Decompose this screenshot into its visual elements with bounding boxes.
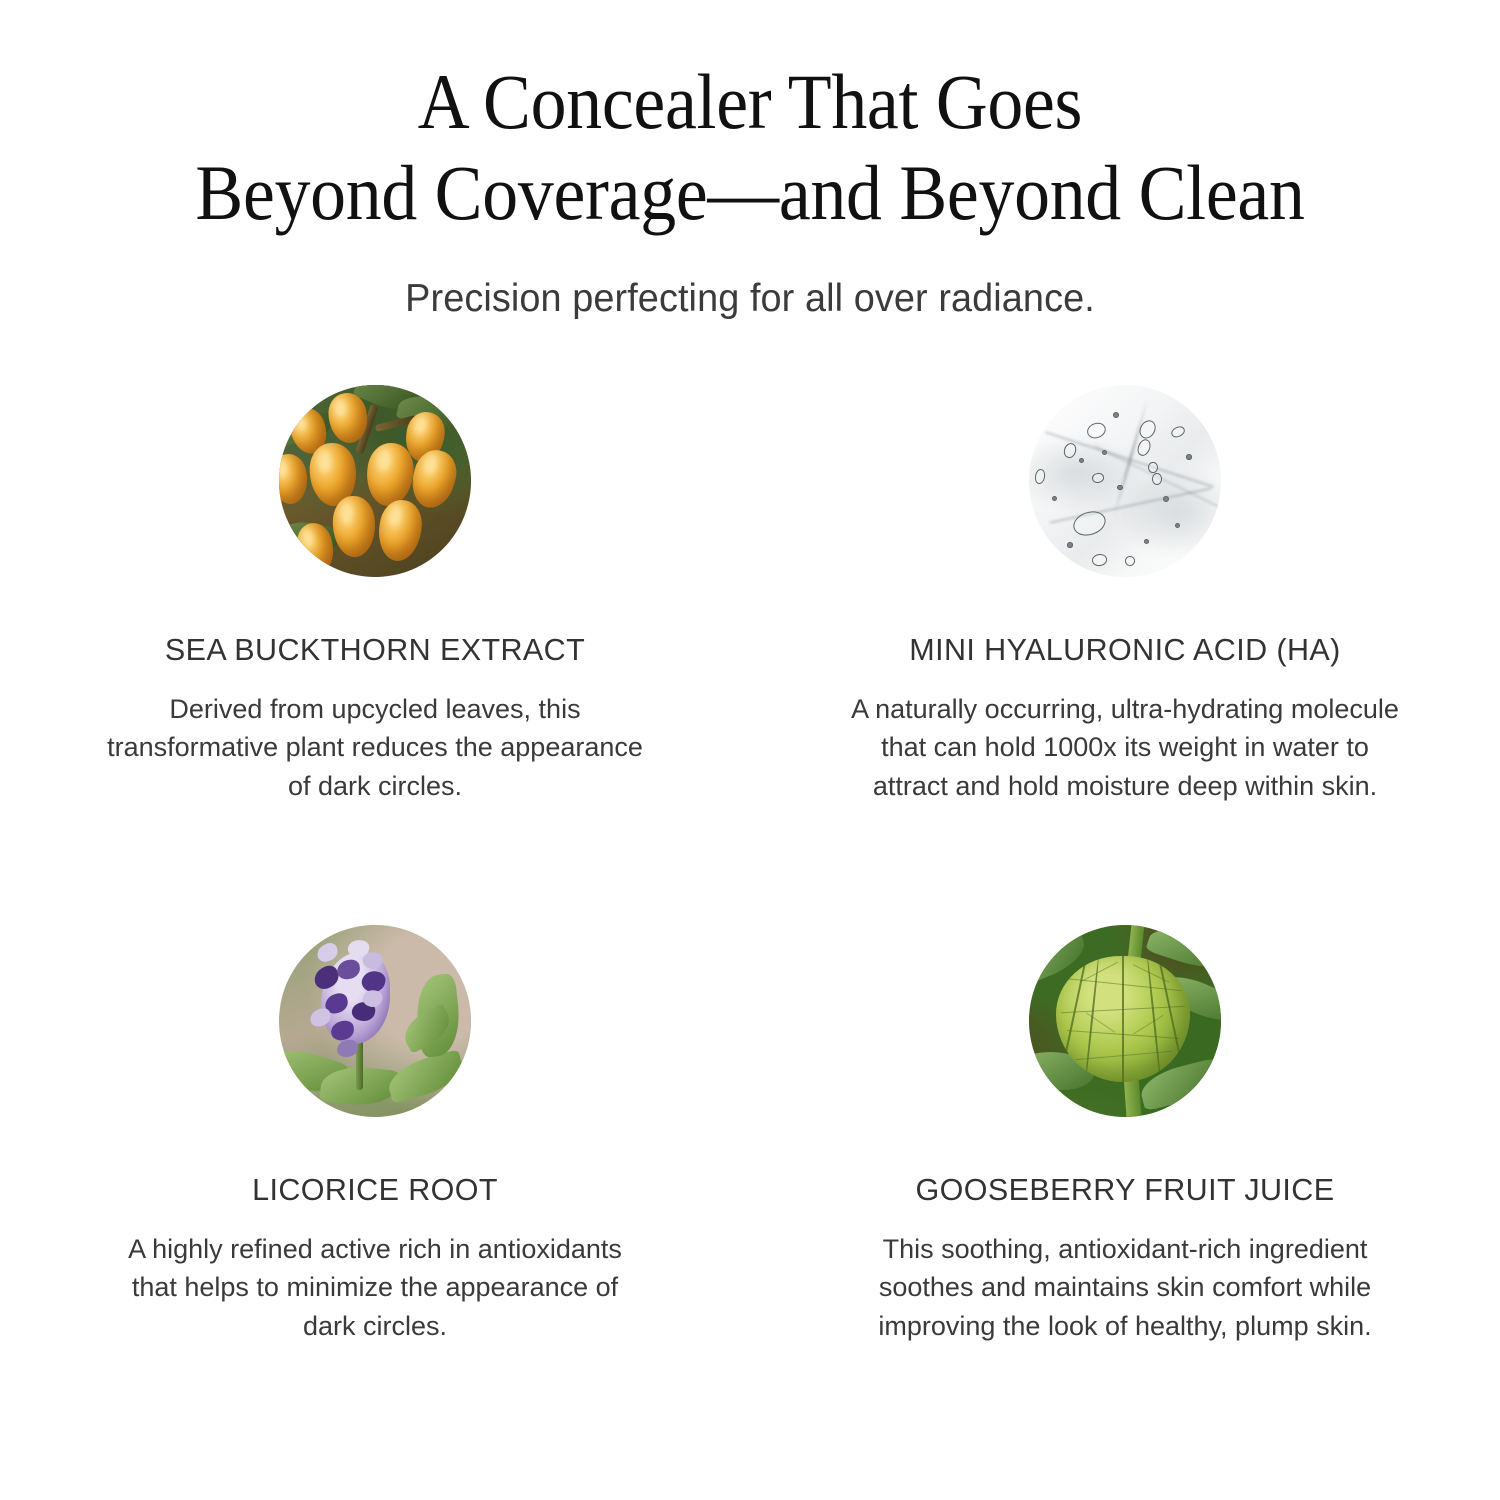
licorice-root-image [279,925,471,1117]
ingredient-card-gooseberry: GOOSEBERRY FRUIT JUICE This soothing, an… [750,925,1500,1465]
gooseberry-image [1029,925,1221,1117]
ingredient-description: This soothing, antioxidant-rich ingredie… [843,1230,1408,1345]
sea-buckthorn-image [279,385,471,577]
ingredient-card-licorice-root: LICORICE ROOT A highly refined active ri… [0,925,750,1465]
ingredient-description: A highly refined active rich in antioxid… [105,1230,645,1345]
ingredient-title: GOOSEBERRY FRUIT JUICE [916,1173,1335,1208]
gooseberry-husk-illustration [1029,925,1221,1117]
ingredient-thumb-wrap [279,385,471,577]
ingredient-thumb-wrap [279,925,471,1117]
page-title-line-2: Beyond Coverage—and Beyond Clean [134,147,1367,238]
berries-illustration [279,385,471,577]
ingredient-card-hyaluronic-acid: MINI HYALURONIC ACID (HA) A naturally oc… [750,385,1500,925]
ingredient-card-sea-buckthorn: SEA BUCKTHORN EXTRACT Derived from upcyc… [0,385,750,925]
hyaluronic-acid-image [1029,385,1221,577]
ingredient-description: A naturally occurring, ultra-hydrating m… [843,690,1408,805]
ingredient-thumb-wrap [1029,385,1221,577]
ingredient-title: MINI HYALURONIC ACID (HA) [909,633,1340,668]
ingredient-grid: SEA BUCKTHORN EXTRACT Derived from upcyc… [0,385,1500,1465]
ingredient-title: LICORICE ROOT [252,1173,498,1208]
page-header: A Concealer That Goes Beyond Coverage—an… [0,0,1500,321]
page-title-line-1: A Concealer That Goes [134,56,1367,147]
ingredient-thumb-wrap [1029,925,1221,1117]
ingredient-benefits-page: A Concealer That Goes Beyond Coverage—an… [0,0,1500,1500]
page-subtitle: Precision perfecting for all over radian… [23,277,1478,321]
page-title: A Concealer That Goes Beyond Coverage—an… [134,56,1367,239]
licorice-flower-illustration [279,925,471,1117]
gel-texture-illustration [1029,385,1221,577]
ingredient-title: SEA BUCKTHORN EXTRACT [165,633,585,668]
husk-shape [1056,956,1190,1083]
ingredient-description: Derived from upcycled leaves, this trans… [105,690,645,805]
